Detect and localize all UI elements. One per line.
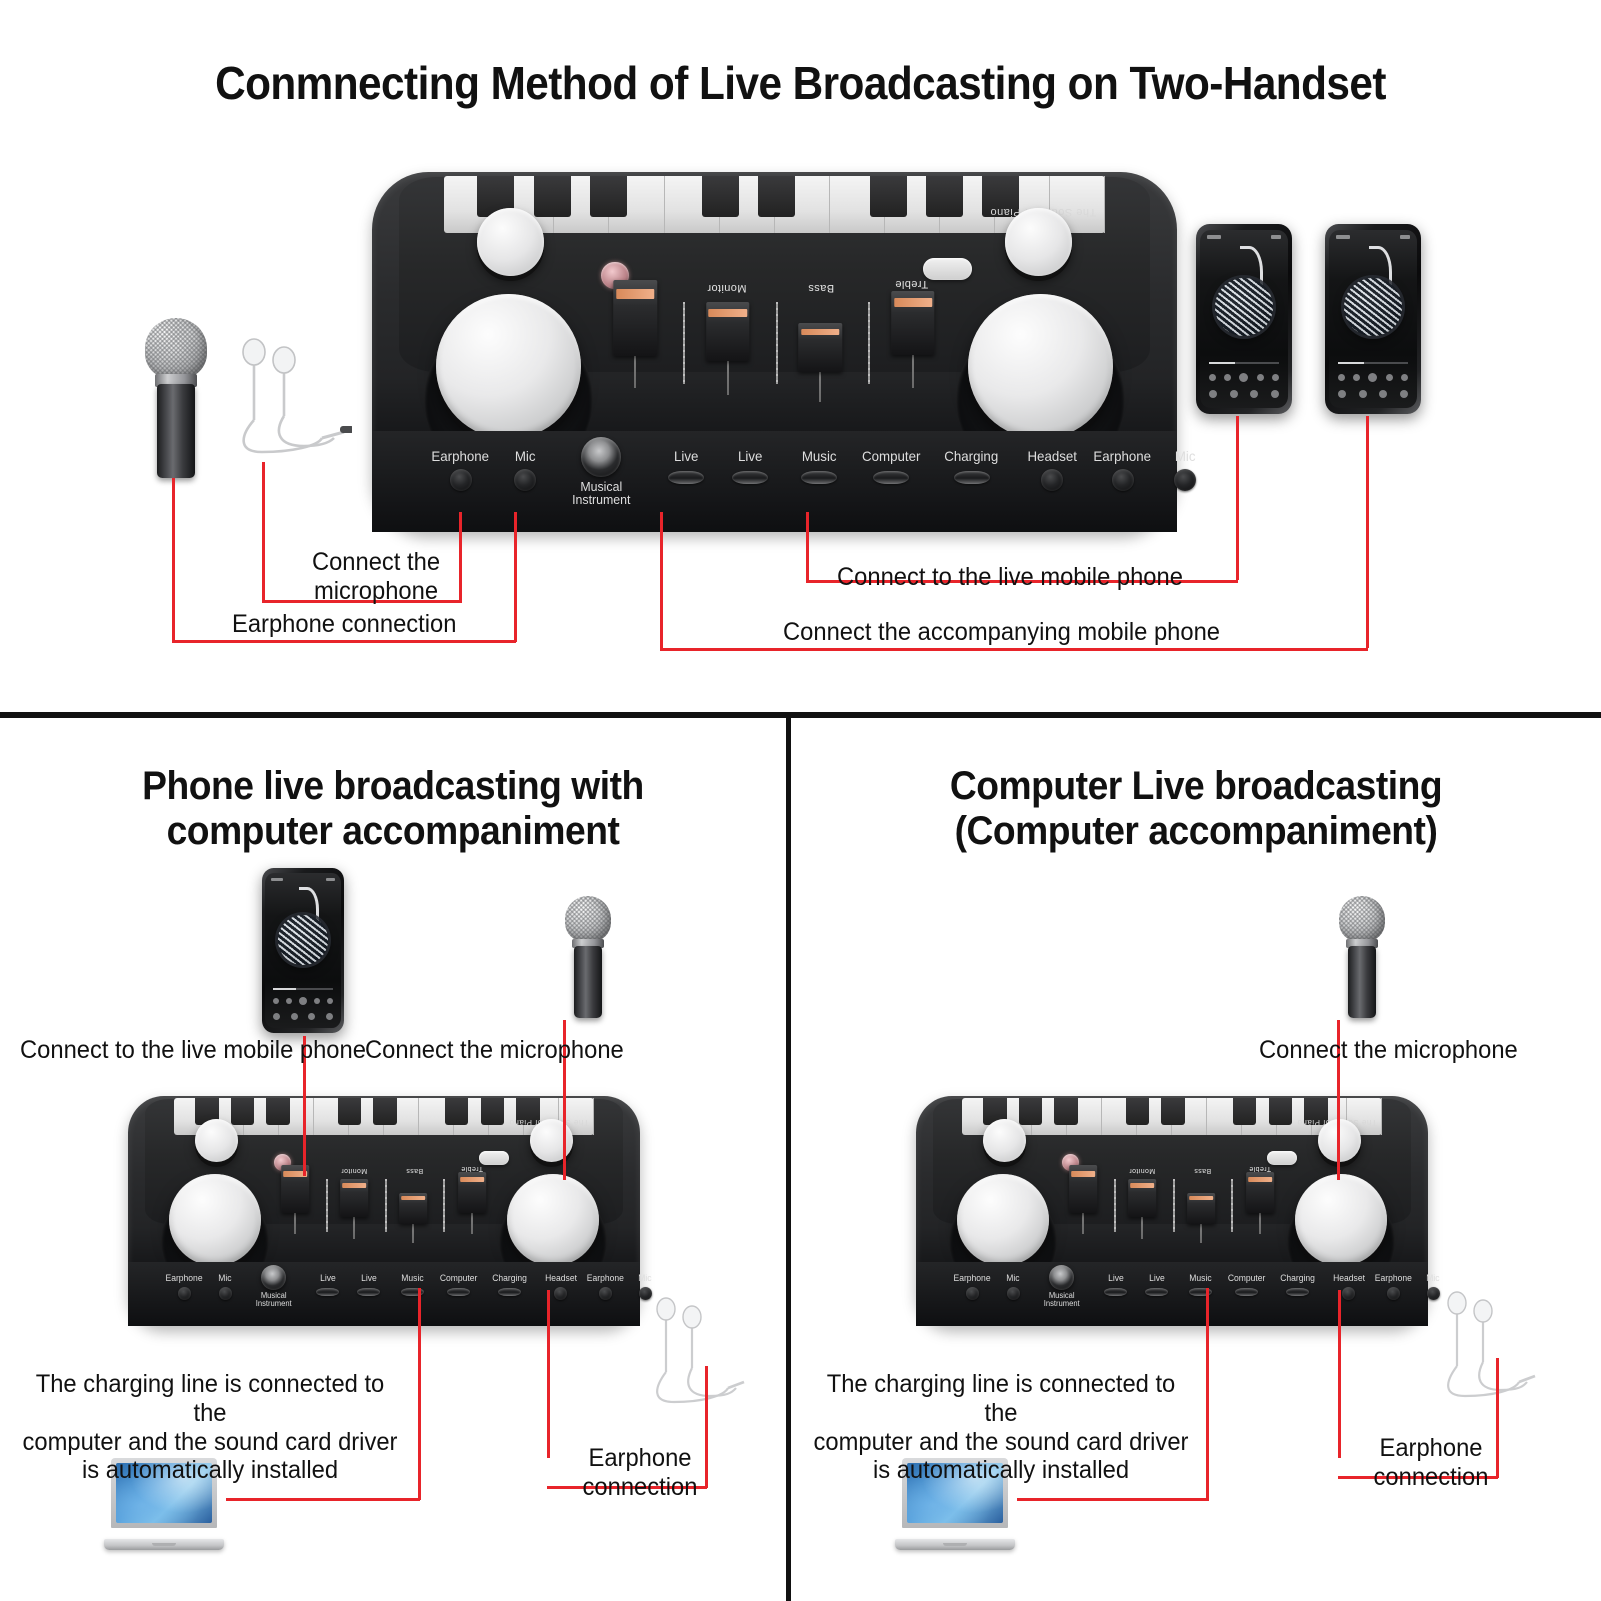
port-strip: Earphone Mic Musical Instrument Live Liv… [128,1262,640,1326]
small-knob-left[interactable] [477,208,545,276]
piano-keys-strip[interactable] [444,176,1104,234]
port-earphone-right[interactable]: Earphone [1084,449,1160,491]
usb-charging[interactable] [498,1288,521,1296]
callout-connect-live-phone: Connect to the live mobile phone [837,563,1183,592]
fader-label-monitor: Monitor [707,282,746,294]
port-music[interactable]: Music [392,1274,433,1296]
small-knob-left[interactable] [983,1119,1026,1162]
usb-charging[interactable] [1286,1288,1309,1296]
port-live-2[interactable]: Live [351,1274,387,1296]
panel-bl-title-line2: computer accompaniment [28,809,759,854]
jack-musical-instrument[interactable] [1049,1265,1074,1290]
phone-shell [1325,224,1421,414]
mic-body [1348,946,1376,1018]
port-live-1[interactable]: Live [1098,1274,1134,1296]
port-musical-instrument[interactable]: Musical Instrument [553,437,650,506]
jack-mic-left[interactable] [1007,1287,1020,1300]
callout-charging-line-br: The charging line is connected to the co… [811,1370,1191,1485]
jack-earphone-left[interactable] [178,1287,191,1300]
port-live-2[interactable]: Live [722,449,778,484]
port-computer[interactable]: Computer [433,1274,484,1296]
port-earphone-left[interactable]: Earphone [161,1274,207,1300]
fader-monitor[interactable] [1128,1179,1156,1239]
earphone-icon [1431,1270,1541,1410]
leader-accompany-vertical [1366,416,1369,648]
mic-head-icon [565,896,611,942]
leader-accompany-to-port [660,512,663,650]
usb-live-1[interactable] [1104,1288,1127,1296]
jack-earphone-left[interactable] [966,1287,979,1300]
port-earphone-left[interactable]: Earphone [424,449,496,491]
panel-bl-title: Phone live broadcasting with computer ac… [28,764,759,854]
panel-two-handset: Conmnecting Method of Live Broadcasting … [0,0,1601,712]
leader-earphone-to-port [459,512,462,602]
callout-connect-accompanying-phone: Connect the accompanying mobile phone [783,618,1220,647]
callout-connect-live-phone-bl: Connect to the live mobile phone [20,1036,366,1065]
fader-label-monitor: Monitor [1129,1167,1155,1174]
callout-earphone-connection: Earphone connection [232,610,456,639]
earphone-icon [640,1276,750,1416]
leader-earphone-bl [547,1290,550,1458]
mic-body [157,384,194,478]
playback-controls-row[interactable] [273,997,333,1005]
oval-button[interactable] [923,258,971,280]
phone-statusbar [271,877,334,882]
phone-screen[interactable] [1329,230,1417,409]
callout-earphone-connection-bl: Earphone connection [564,1444,716,1502]
port-computer[interactable]: Computer [851,449,932,484]
panel-bl-title-line1: Phone live broadcasting with [28,764,759,809]
panel-computer-live-broadcasting: Computer Live broadcasting (Computer acc… [791,718,1601,1601]
leader-earphone-vertical [262,462,265,602]
port-charging[interactable]: Charging [484,1274,535,1296]
jack-headset[interactable] [1342,1287,1355,1300]
usb-computer[interactable] [873,471,909,484]
album-art [1215,278,1273,336]
usb-charging[interactable] [954,471,990,484]
fader-treble[interactable] [1246,1172,1274,1234]
volume-knob-right[interactable] [507,1174,599,1266]
port-headset[interactable]: Headset [1326,1274,1372,1300]
fader-scale-3 [868,302,870,385]
phone-accompanying[interactable] [1325,224,1421,414]
port-headset[interactable]: Headset [1016,449,1088,491]
port-mic-right[interactable]: Mic [1157,449,1213,491]
port-music[interactable]: Music [1180,1274,1221,1296]
volume-knob-left[interactable] [957,1174,1049,1266]
sound-card-device-br[interactable]: The Sound of Piano Monitor Bass [916,1096,1428,1326]
bottom-nav-row[interactable] [1209,390,1280,398]
volume-knob-right[interactable] [1295,1174,1387,1266]
usb-live-2[interactable] [1145,1288,1168,1296]
phone-statusbar [1207,234,1281,240]
phone-live-bl[interactable] [262,868,344,1033]
leader-earphone-br [1338,1290,1341,1458]
fader-scale-2 [1173,1179,1175,1232]
callout-earphone-connection-br: Earphone connection [1355,1434,1507,1492]
jack-earphone-right[interactable] [1112,469,1134,491]
jack-headset[interactable] [554,1287,567,1300]
usb-music[interactable] [801,471,837,484]
fader-label-treble: Treble [461,1165,483,1172]
port-live-1[interactable]: Live [310,1274,346,1296]
jack-mic-left[interactable] [514,469,536,491]
fader-label-monitor: Monitor [341,1167,367,1174]
port-mic-left[interactable]: Mic [497,449,553,491]
port-earphone-right[interactable]: Earphone [581,1274,630,1300]
port-live-2[interactable]: Live [1139,1274,1175,1296]
leader-live-phone-vertical [1236,416,1239,580]
panel-phone-live-broadcasting: Phone live broadcasting with computer ac… [0,718,786,1601]
fader-scale-1 [1114,1179,1116,1232]
oval-button[interactable] [1267,1151,1298,1165]
port-musical-instrument[interactable]: Musical Instrument [1031,1265,1092,1308]
port-musical-instrument[interactable]: Musical Instrument [243,1265,304,1308]
port-charging[interactable]: Charging [931,449,1012,484]
fader-scale-1 [683,302,685,385]
leader-charging-bl [418,1288,421,1500]
volume-knob-right[interactable] [968,294,1113,439]
panel-br-title-line1: Computer Live broadcasting [819,764,1572,809]
fader-treble[interactable] [891,291,934,388]
fader-scale-1 [326,1179,328,1232]
usb-live-2[interactable] [732,471,768,484]
port-computer[interactable]: Computer [1221,1274,1272,1296]
fader-scale-3 [443,1179,445,1232]
jack-mic-right[interactable] [1174,469,1196,491]
leader-mic-horizontal [172,640,516,643]
fader-bass[interactable] [399,1193,427,1244]
usb-live-2[interactable] [357,1288,380,1296]
oval-button[interactable] [479,1151,510,1165]
album-art [278,915,328,965]
playback-seekbar[interactable] [1209,362,1280,364]
bottom-nav-row[interactable] [1338,390,1409,398]
laptop-base [895,1539,1015,1550]
phone-shell [1196,224,1292,414]
fader-scale-2 [385,1179,387,1232]
fader-label-bass: Bass [808,282,834,294]
leader-accompany-horizontal [660,648,1368,651]
jack-musical-instrument[interactable] [261,1265,286,1290]
fader-monitor[interactable] [340,1179,368,1239]
fader-monitor[interactable] [706,302,749,396]
piano-keys-strip[interactable] [174,1098,594,1135]
infographic-page: Conmnecting Method of Live Broadcasting … [0,0,1601,1601]
port-charging[interactable]: Charging [1272,1274,1323,1296]
port-mic-left[interactable]: Mic [995,1274,1031,1300]
fader-label-bass: Bass [1194,1167,1211,1174]
leader-mic-vertical [172,478,175,640]
jack-musical-instrument[interactable] [581,437,621,477]
mic-body [574,946,602,1018]
fader-treble[interactable] [458,1172,486,1234]
callout-charging-line-bl: The charging line is connected to the co… [20,1370,400,1485]
fader-label-treble: Treble [1249,1165,1271,1172]
small-knob-left[interactable] [195,1119,238,1162]
earphones-illustration [222,312,352,462]
album-art [1344,278,1402,336]
leader-charging-h-br [1017,1498,1209,1501]
port-earphone-right[interactable]: Earphone [1369,1274,1418,1300]
fader-label-treble: Treble [895,278,928,290]
port-mic-left[interactable]: Mic [207,1274,243,1300]
bottom-nav-row[interactable] [273,1013,333,1020]
usb-computer[interactable] [447,1288,470,1296]
usb-live-1[interactable] [668,471,704,484]
panel-br-title: Computer Live broadcasting (Computer acc… [819,764,1572,854]
playback-seekbar[interactable] [273,988,333,990]
callout-connect-microphone-br: Connect the microphone [1259,1036,1518,1065]
earphones-illustration-bl [640,1276,750,1416]
playback-controls-row[interactable] [1338,373,1409,382]
volume-knob-left[interactable] [169,1174,261,1266]
usb-live-1[interactable] [316,1288,339,1296]
fader-scale-3 [1231,1179,1233,1232]
microphone-illustration [145,318,207,478]
fader-label-bass: Bass [406,1167,423,1174]
jack-mic-left[interactable] [219,1287,232,1300]
playback-seekbar[interactable] [1338,362,1409,364]
leader-live-phone-to-port [806,512,809,582]
jack-earphone-left[interactable] [450,469,472,491]
fader-bass[interactable] [1187,1193,1215,1244]
microphone-illustration-br [1339,896,1385,1018]
earphones-illustration-br [1431,1270,1541,1410]
phone-statusbar [1336,234,1410,240]
usb-computer[interactable] [1235,1288,1258,1296]
phone-screen[interactable] [1200,230,1288,409]
leader-mic-to-port [514,512,517,642]
phone-shell [262,868,344,1033]
laptop-base [104,1539,224,1550]
port-strip: Earphone Mic Musical Instrument Live Liv… [916,1262,1428,1326]
volume-knob-left[interactable] [436,294,581,439]
earphone-icon [222,312,352,462]
fader-master[interactable] [1070,1165,1098,1234]
page-title: Conmnecting Method of Live Broadcasting … [64,56,1537,110]
panel-br-title-line2: (Computer accompaniment) [819,809,1572,854]
phone-screen[interactable] [265,873,340,1028]
leader-charging-br [1206,1288,1209,1500]
leader-charging-h-bl [226,1498,420,1501]
fader-bass[interactable] [799,323,842,402]
mic-head-icon [145,318,207,379]
port-music[interactable]: Music [787,449,851,484]
fader-scale-2 [776,302,778,385]
port-headset[interactable]: Headset [538,1274,584,1300]
phone-live[interactable] [1196,224,1292,414]
port-earphone-left[interactable]: Earphone [949,1274,995,1300]
callout-connect-microphone-bl: Connect the microphone [365,1036,624,1065]
sound-card-device-main[interactable]: The Sound of Piano [372,172,1177,532]
piano-keys-strip[interactable] [962,1098,1382,1135]
callout-connect-microphone: Connect the microphone [300,548,452,606]
port-live-1[interactable]: Live [658,449,714,484]
fader-master[interactable] [614,280,657,388]
jack-earphone-right[interactable] [599,1287,612,1300]
playback-controls-row[interactable] [1209,373,1280,382]
mic-head-icon [1339,896,1385,942]
jack-headset[interactable] [1041,469,1063,491]
microphone-illustration-bl [565,896,611,1018]
jack-earphone-right[interactable] [1387,1287,1400,1300]
small-knob-right[interactable] [1005,208,1073,276]
port-strip: Earphone Mic Musical Instrument Live [372,431,1177,532]
